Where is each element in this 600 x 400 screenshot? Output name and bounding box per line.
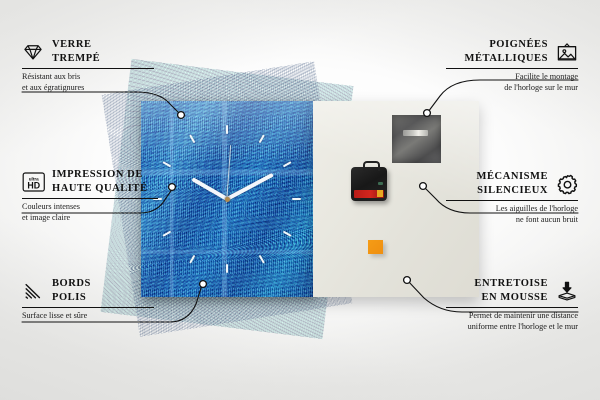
mechanism-label-dot xyxy=(378,182,383,185)
clock-center-cap xyxy=(225,197,230,202)
press-down-foam-icon xyxy=(556,280,578,302)
feature-description: Les aiguilles de l'horloge ne font aucun… xyxy=(446,204,578,225)
hour-hand xyxy=(191,177,228,200)
picture-frame-hanger-icon xyxy=(556,41,578,63)
feature-title: MÉCANISME SILENCIEUX xyxy=(477,170,548,197)
product-image xyxy=(141,101,479,297)
feature-title: ENTRETOISE EN MOUSSE xyxy=(474,277,548,304)
feature-description: Couleurs intenses et image claire xyxy=(22,202,158,223)
hour-marker xyxy=(292,198,301,200)
hour-marker xyxy=(162,231,171,237)
clock-front-face xyxy=(141,101,313,297)
hour-marker xyxy=(226,125,228,134)
glass-highlight xyxy=(141,101,313,168)
feature-title: VERRE TREMPÉ xyxy=(52,38,100,65)
mechanism-hanger-tab xyxy=(363,161,380,171)
feature-description: Résistant aux bris et aux égratignures xyxy=(22,72,154,93)
feature-verre-trempe: VERRE TREMPÉ Résistant aux bris et aux é… xyxy=(22,38,154,93)
svg-text:HD: HD xyxy=(27,180,40,190)
feature-divider xyxy=(446,307,578,308)
feature-divider xyxy=(22,198,158,199)
feature-title: POIGNÉES MÉTALLIQUES xyxy=(465,38,548,65)
hour-marker xyxy=(226,264,228,273)
feature-divider xyxy=(446,68,578,69)
feature-divider xyxy=(22,307,154,308)
feature-description: Surface lisse et sûre xyxy=(22,311,154,322)
feature-poignees-metalliques: POIGNÉES MÉTALLIQUES Facilite le montage… xyxy=(446,38,578,93)
clock-mechanism xyxy=(351,167,387,201)
feature-entretoise-en-mousse: ENTRETOISE EN MOUSSE Permet de maintenir… xyxy=(446,277,578,332)
ultra-hd-icon: ultra HD xyxy=(22,171,44,193)
feature-divider xyxy=(446,200,578,201)
feature-title: IMPRESSION DE HAUTE QUALITÉ xyxy=(52,168,148,195)
feature-divider xyxy=(22,68,154,69)
hour-marker xyxy=(189,255,195,264)
product-feature-infographic: VERRE TREMPÉ Résistant aux bris et aux é… xyxy=(0,0,600,400)
battery-plus-terminal xyxy=(377,190,383,197)
hanger-slot xyxy=(403,130,428,136)
feature-mecanisme-silencieux: MÉCANISME SILENCIEUX Les aiguilles de l'… xyxy=(446,170,578,225)
hour-marker xyxy=(283,161,292,167)
feature-bords-polis: BORDS POLIS Surface lisse et sûre xyxy=(22,277,154,322)
hour-marker xyxy=(283,231,292,237)
feature-title: BORDS POLIS xyxy=(52,277,91,304)
hour-marker xyxy=(162,161,171,167)
hour-marker xyxy=(259,134,265,143)
feature-description: Facilite le montage de l'horloge sur le … xyxy=(446,72,578,93)
metal-hanger-plate xyxy=(392,115,441,163)
minute-hand xyxy=(226,173,274,201)
gear-icon xyxy=(556,173,578,195)
foam-spacer xyxy=(368,240,383,254)
polished-edges-icon xyxy=(22,280,44,302)
battery xyxy=(354,190,384,198)
feature-impression-haute-qualite: ultra HD IMPRESSION DE HAUTE QUALITÉ Cou… xyxy=(22,168,158,223)
hour-marker xyxy=(189,134,195,143)
hour-marker xyxy=(259,255,265,264)
diamond-icon xyxy=(22,41,44,63)
feature-description: Permet de maintenir une distance uniform… xyxy=(446,311,578,332)
